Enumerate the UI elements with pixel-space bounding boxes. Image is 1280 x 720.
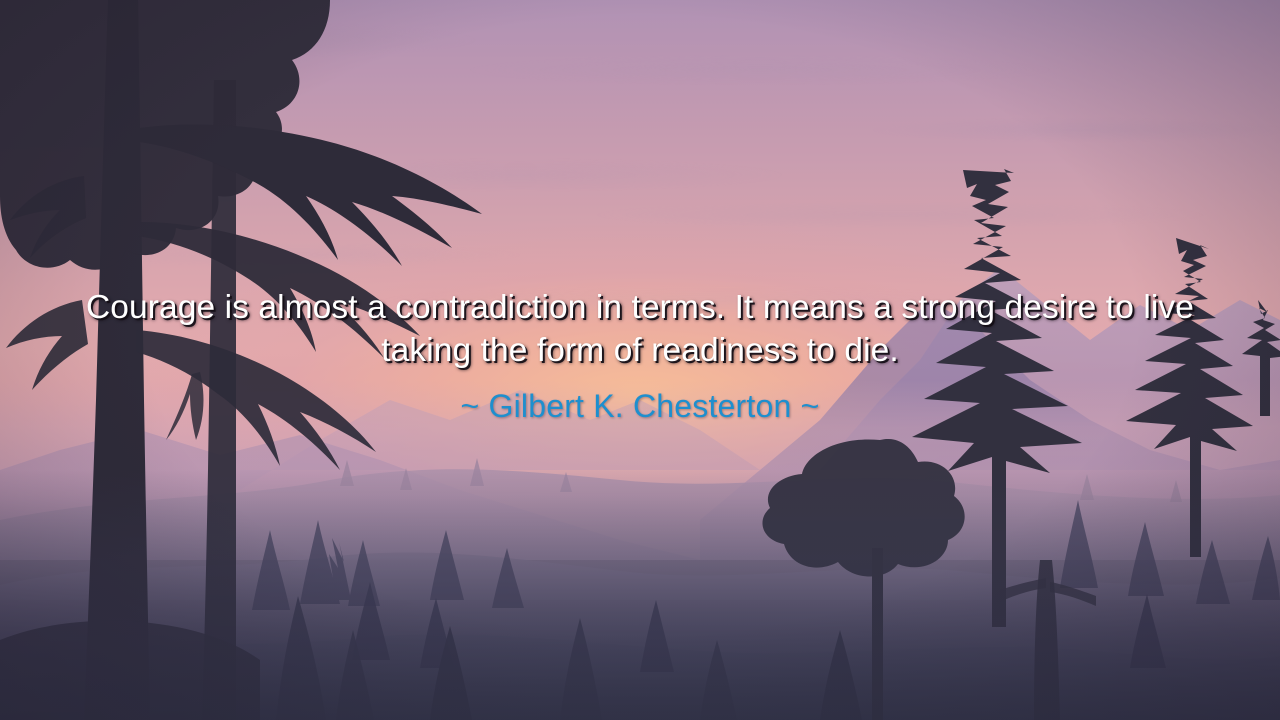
bottom-foreground-trees: [0, 0, 1280, 720]
quote-image-canvas: Courage is almost a contradiction in ter…: [0, 0, 1280, 720]
background-photo: [0, 0, 1280, 720]
